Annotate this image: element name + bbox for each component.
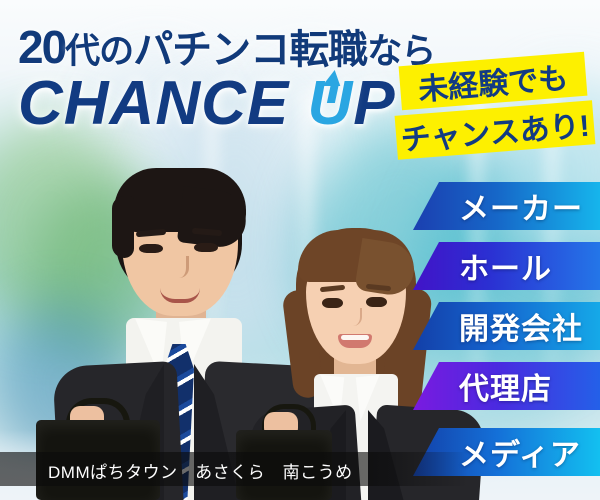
category-label: 代理店 [459, 364, 552, 408]
headline-part2: パチンコ [133, 28, 289, 72]
logo-letter-u: U [307, 68, 353, 139]
headline-part1: 代の [65, 32, 133, 71]
teeth [341, 335, 369, 340]
logo-text-chance: CHANCE [18, 69, 289, 138]
category-label: メーカー [459, 184, 583, 228]
category-button-hall[interactable]: ホール [413, 242, 600, 290]
category-button-agency[interactable]: 代理店 [413, 362, 600, 410]
category-label: ホール [459, 244, 552, 288]
brand-logo: CHANCE UP [18, 68, 396, 139]
advertisement-banner[interactable]: 20代のパチンコ転職なら CHANCE UP 未経験でも チャンスあり! メーカ… [0, 0, 600, 500]
hair-side [112, 196, 134, 258]
credit-text: DMMぱちタウン あさくら 南こうめ [48, 458, 353, 483]
eye [194, 243, 218, 252]
category-button-development-company[interactable]: 開発会社 [413, 302, 600, 350]
eye [139, 244, 163, 253]
logo-letter-p: P [353, 69, 395, 138]
headline-number: 20 [18, 21, 65, 73]
eye [322, 298, 343, 308]
headline: 20代のパチンコ転職なら [18, 17, 435, 75]
eye [366, 297, 387, 307]
category-label: 開発会社 [459, 304, 583, 348]
headline-part3: 転職 [289, 28, 367, 72]
category-button-maker[interactable]: メーカー [413, 182, 600, 230]
